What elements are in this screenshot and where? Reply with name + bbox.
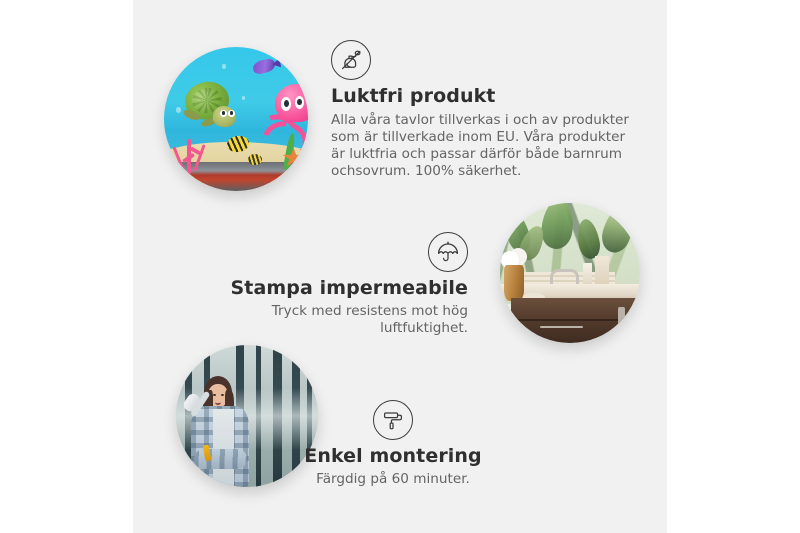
- turtle-eye: [220, 110, 227, 118]
- smile: [215, 400, 221, 405]
- feature-title: Stampa impermeabile: [180, 278, 468, 300]
- paint-roller-icon: [373, 400, 413, 440]
- no-fragrance-icon: [331, 40, 371, 80]
- crossed-arms: [194, 449, 247, 469]
- underwater-scene: [164, 47, 308, 191]
- bathroom-scene: [500, 203, 640, 343]
- feature-body: Färgdig på 60 minuter.: [282, 471, 504, 488]
- product-feature-infographic: Luktfri produkt Alla våra tavlor tillver…: [0, 0, 800, 533]
- feature-body: Tryck med resistens mot hög luftfuktighe…: [180, 303, 468, 337]
- feature-body: Alla våra tavlor tillverkas i och av pro…: [331, 112, 631, 181]
- underwater-cartoon-medallion: [164, 47, 308, 191]
- feature-odourless-product: Luktfri produkt Alla våra tavlor tillver…: [331, 40, 631, 181]
- door-handle: [618, 307, 624, 332]
- leaf-icon: [539, 203, 575, 251]
- soap-bottle: [583, 263, 593, 284]
- octopus-eye: [295, 96, 304, 109]
- octopus-icon: [259, 84, 308, 147]
- feature-title: Enkel montering: [282, 446, 504, 468]
- butterflyfish-icon: [248, 154, 262, 166]
- feature-waterproof-print: Stampa impermeabile Tryck med resistens …: [180, 232, 468, 337]
- umbrella-icon: [428, 232, 468, 272]
- vanity-cabinet: [511, 298, 640, 343]
- t-shirt: [213, 409, 234, 487]
- sea-turtle-icon: [181, 82, 247, 134]
- feature-easy-installation: Enkel montering Färgdig på 60 minuter.: [282, 400, 504, 488]
- coral-icon: [173, 128, 216, 174]
- drawer-handle: [540, 326, 584, 328]
- leaf-icon: [575, 218, 603, 261]
- vase-icon: [504, 265, 524, 301]
- bathroom-vanity-medallion: [500, 203, 640, 343]
- installer-person: [185, 376, 267, 487]
- turtle-eye: [228, 110, 235, 118]
- leaf-icon: [597, 203, 637, 256]
- feature-title: Luktfri produkt: [331, 86, 631, 108]
- faucet-icon: [550, 269, 578, 286]
- soap-bottle: [595, 256, 609, 287]
- bubble-icon: [222, 64, 226, 68]
